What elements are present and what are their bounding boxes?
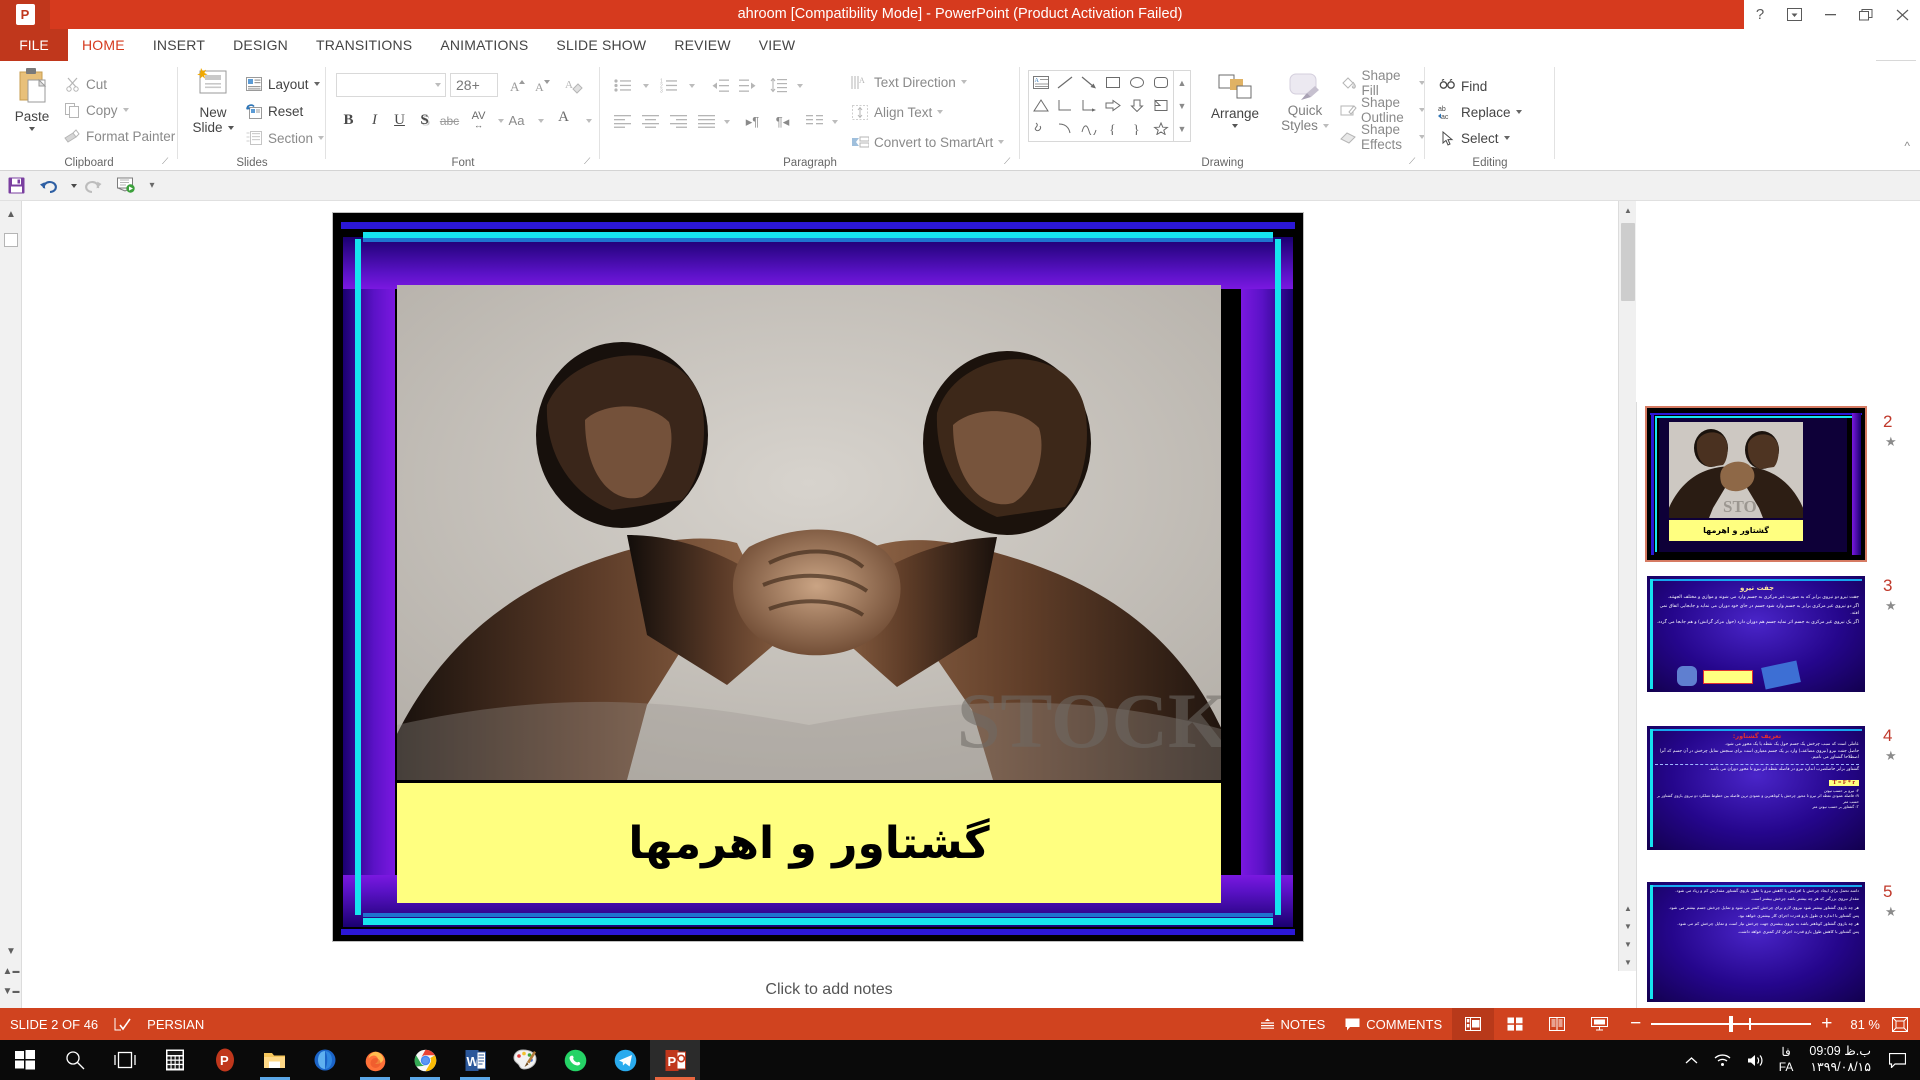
thumbnail-5-bullet-2: مقدار نیروی بزرگتر که هر چه بیشتر باشد چ…	[1655, 896, 1859, 902]
thumbnail-2-canvas: STO گشتاور و اهرمها	[1647, 408, 1865, 560]
slide-stripe-bottom-blue	[341, 929, 1295, 935]
next-slide-icon[interactable]: ▼	[1619, 917, 1637, 935]
slideshow-view-button[interactable]	[1578, 1008, 1620, 1040]
layout-dropdown-caret[interactable]	[314, 82, 320, 86]
powerpoint-viewer-icon[interactable]: P	[200, 1040, 250, 1080]
ribbon-group-clipboard: Paste Cut Copy Format Painter	[0, 61, 178, 171]
find-label: Find	[1461, 79, 1487, 94]
thumbnail-5-bullet-5: هر چه بازوی گشتاور کوتاهتر باشد به نیروی…	[1655, 921, 1859, 927]
align-left-button[interactable]	[610, 109, 635, 134]
gallery-scroll-up-icon[interactable]: ▲	[1174, 71, 1190, 94]
font-size-value: 28+	[456, 77, 480, 93]
slide-frame-top-violet	[343, 237, 1293, 289]
align-text-label: Align Text	[874, 105, 932, 120]
scrollbar-thumb[interactable]	[1621, 223, 1635, 301]
replace-button[interactable]: abac Replace	[1437, 99, 1522, 125]
text-direction-icon: A	[850, 72, 870, 92]
slide-frame-left-violet	[343, 237, 395, 927]
thumbnail-3-number: 3	[1883, 576, 1892, 596]
thumbnail-2-title-box: گشتاور و اهرمها	[1669, 520, 1803, 541]
opera-icon[interactable]	[300, 1040, 350, 1080]
paste-dropdown-caret[interactable]	[29, 127, 35, 131]
paragraph-group-label: Paragraph	[600, 157, 1020, 169]
text-direction-button[interactable]: A Text Direction	[850, 69, 967, 95]
paste-label: Paste	[15, 109, 50, 124]
new-slide-label-1: New	[199, 105, 226, 120]
grow-font-button[interactable]: A	[506, 73, 531, 98]
search-icon[interactable]	[50, 1040, 100, 1080]
svg-text:A: A	[535, 80, 544, 94]
lang-persian-label: فا	[1781, 1045, 1790, 1060]
shape-right-brace[interactable]: }	[1125, 117, 1149, 140]
thumbnail-3-bullet-1: جفت نیرو دو نیروی برابر که به صورت غیر م…	[1655, 595, 1859, 602]
smartart-icon	[850, 132, 870, 152]
chrome-icon[interactable]	[400, 1040, 450, 1080]
reset-icon	[244, 101, 264, 121]
layout-icon	[244, 74, 264, 94]
restore-icon[interactable]	[1848, 0, 1884, 29]
thumbnail-slide-5[interactable]: دامنه تحمل برای ایجاد چرخش با افزایش یا …	[1645, 880, 1867, 1004]
lang-code-label: FA	[1779, 1060, 1794, 1075]
wifi-icon[interactable]	[1706, 1040, 1739, 1080]
thumbnail-3-bullet-2: اگر دو نیروی غیر مرکزی برابر به جسم وارد…	[1655, 604, 1859, 618]
ribbon-group-font: 28+ A A A B I U S abc AV ↔ Aa A	[326, 61, 600, 171]
right-to-left-button[interactable]: ¶◂	[770, 109, 795, 134]
svg-text:P: P	[220, 1053, 229, 1068]
outline-pane-toggle[interactable]	[4, 233, 18, 247]
font-color-label: A	[558, 109, 569, 126]
animation-star-icon[interactable]: ★	[1885, 748, 1897, 764]
ribbon-group-slides: New Slide Layout Reset	[178, 61, 326, 171]
thumbnail-3-canvas: جفت نیرو جفت نیرو دو نیروی برابر که به ص…	[1647, 576, 1865, 692]
normal-view-button[interactable]	[1452, 1008, 1494, 1040]
shape-left-brace[interactable]: {	[1101, 117, 1125, 140]
change-case-caret[interactable]	[526, 108, 551, 133]
clipboard-dialog-launcher[interactable]: ⟋	[162, 156, 174, 168]
system-tray: فا FA 09:09 ب.ظ ۱۳۹۹/۰۸/۱۵	[1677, 1040, 1920, 1080]
thumbnail-3-shape-octagon	[1677, 666, 1697, 686]
notes-icon	[1260, 1018, 1275, 1031]
group-separator	[1554, 67, 1555, 159]
status-bar: SLIDE 2 OF 46 PERSIAN NOTES COMMENTS	[0, 1008, 1920, 1040]
shape-oval[interactable]	[1125, 71, 1149, 94]
thumbnail-4-bullet-3: گشتاور برابر حاصلضرب اندازه نیرو در فاصل…	[1655, 767, 1859, 773]
shape-fill-icon	[1340, 73, 1357, 93]
thumbnail-3-shape-bar	[1703, 670, 1753, 684]
shape-fill-button[interactable]: Shape Fill	[1340, 70, 1425, 96]
slide-thumbnail-pane[interactable]: STO گشتاور و اهرمها 2 ★	[1636, 402, 1920, 1080]
undo-icon[interactable]	[32, 171, 64, 201]
window-title: ahroom [Compatibility Mode] - PowerPoint…	[0, 0, 1920, 29]
current-slide[interactable]: STOCK گشتاور و اهرمها	[333, 213, 1303, 941]
clear-formatting-button[interactable]: A	[562, 73, 587, 98]
shape-triangle[interactable]	[1029, 94, 1053, 117]
redo-icon[interactable]	[78, 171, 110, 201]
columns-caret[interactable]	[825, 109, 839, 134]
cut-button[interactable]: Cut	[62, 71, 107, 97]
slide-stripe-bottom-cyan	[363, 918, 1273, 925]
notes-pane[interactable]: Click to add notes	[22, 971, 1636, 1008]
thumbnail-4-bullet-5: R: فاصله عمودی نقطه اثر نیرو تا محور چرخ…	[1655, 793, 1859, 804]
shape-elbow-connector[interactable]	[1053, 94, 1077, 117]
align-text-button[interactable]: Align Text	[850, 99, 943, 125]
clock-date: ۱۳۹۹/۰۸/۱۵	[1810, 1060, 1871, 1076]
outline-next-slide-icon[interactable]: ▼▬	[0, 980, 22, 1002]
svg-text:}: }	[1133, 123, 1140, 135]
scroll-down-icon[interactable]: ▼	[1619, 935, 1637, 953]
zoom-slider-midpoint	[1749, 1018, 1751, 1030]
svg-text:A: A	[510, 79, 520, 94]
select-button[interactable]: Select	[1437, 125, 1510, 151]
decrease-indent-button[interactable]	[708, 73, 733, 98]
convert-to-smartart-label: Convert to SmartArt	[874, 135, 993, 150]
slide-stripe-right-cyan	[1275, 239, 1281, 915]
bullets-caret[interactable]	[636, 73, 650, 98]
fit-slide-to-window-icon[interactable]	[1886, 1008, 1920, 1040]
shapes-gallery-scrollbar[interactable]: ▲ ▼ ▼	[1174, 70, 1191, 142]
italic-button[interactable]: I	[362, 108, 387, 133]
replace-icon: abac	[1437, 102, 1457, 122]
quick-access-toolbar: ▾	[0, 171, 1920, 201]
arrange-button[interactable]: Arrange	[1202, 73, 1268, 128]
quick-styles-label-1: Quick	[1288, 103, 1323, 118]
workspace: ▲ ▼ ▲▬ ▼▬	[0, 201, 1920, 1008]
svg-text:3: 3	[660, 88, 663, 93]
shape-folded-corner[interactable]	[1149, 94, 1173, 117]
reset-label: Reset	[268, 104, 303, 119]
thumbnail-4-formula: T = F * r	[1829, 780, 1859, 786]
zoom-out-icon[interactable]: −	[1626, 1017, 1651, 1031]
drawing-group-label: Drawing	[1020, 157, 1425, 169]
format-painter-button[interactable]: Format Painter	[62, 123, 175, 149]
previous-slide-icon[interactable]: ▲	[1619, 899, 1637, 917]
font-group-label: Font	[326, 157, 600, 169]
action-center-icon[interactable]	[1881, 1040, 1920, 1080]
find-icon	[1437, 76, 1457, 96]
whatsapp-icon[interactable]	[550, 1040, 600, 1080]
shape-rectangle[interactable]	[1101, 71, 1125, 94]
window-controls: ?	[1744, 0, 1920, 29]
clock-time: 09:09 ب.ظ	[1809, 1044, 1871, 1060]
reading-view-button[interactable]	[1536, 1008, 1578, 1040]
ribbon: Paste Cut Copy Format Painter	[0, 61, 1920, 171]
tab-view[interactable]: VIEW	[745, 29, 810, 61]
slide-image-arm-wrestling[interactable]: STOCK	[397, 285, 1221, 780]
shape-star[interactable]	[1149, 117, 1173, 140]
copy-dropdown-caret[interactable]	[123, 108, 129, 112]
underline-button[interactable]: U	[387, 108, 412, 133]
powerpoint-icon[interactable]: P	[650, 1040, 700, 1080]
format-painter-label: Format Painter	[86, 129, 175, 144]
slide-indicator[interactable]: SLIDE 2 OF 46	[0, 1008, 108, 1040]
thumbnail-4-bullet-1: عاملی است که سبب چرخش یک جسم حول یک نقطه…	[1655, 742, 1859, 748]
thumbnail-4-bullet-2: حاصل جفت نیرو (نیروی مضاعف) وارد بر یک ج…	[1655, 749, 1859, 761]
slide-stripe-top-blue	[341, 222, 1295, 229]
title-bar: P ahroom [Compatibility Mode] - PowerPoi…	[0, 0, 1920, 29]
language-indicator[interactable]: PERSIAN	[137, 1008, 214, 1040]
slides-group-label: Slides	[178, 157, 326, 169]
replace-label: Replace	[1461, 105, 1511, 120]
shape-effects-label: Shape Effects	[1361, 122, 1414, 152]
zoom-level[interactable]: 81 %	[1844, 1008, 1886, 1040]
tab-file[interactable]: FILE	[0, 29, 68, 61]
ribbon-tabs: HOME INSERT DESIGN TRANSITIONS ANIMATION…	[68, 29, 809, 61]
editing-group-label: Editing	[1425, 157, 1555, 169]
shape-effects-icon	[1340, 127, 1357, 147]
comments-button[interactable]: COMMENTS	[1335, 1008, 1452, 1040]
slide-stripe-bottom-steel	[363, 913, 1273, 917]
bullets-button[interactable]	[610, 73, 636, 98]
outline-previous-slide-icon[interactable]: ▲▬	[0, 960, 22, 982]
paint-icon[interactable]	[500, 1040, 550, 1080]
comments-icon	[1345, 1018, 1360, 1031]
shapes-gallery[interactable]: A { }	[1028, 70, 1174, 142]
ribbon-display-options-icon[interactable]	[1776, 0, 1812, 29]
volume-icon[interactable]	[1739, 1040, 1773, 1080]
shape-outline-button[interactable]: Shape Outline	[1340, 97, 1425, 123]
windows-start-icon[interactable]	[0, 1040, 50, 1080]
thumbnail-3-title: جفت نیرو	[1655, 584, 1859, 592]
align-right-button[interactable]	[666, 109, 691, 134]
zoom-in-icon[interactable]: +	[1811, 1017, 1838, 1031]
outline-scroll-up-icon[interactable]: ▲	[0, 203, 22, 225]
powerpoint-window: P ahroom [Compatibility Mode] - PowerPoi…	[0, 0, 1920, 1080]
text-shadow-button[interactable]: S	[412, 108, 437, 133]
left-to-right-button[interactable]: ▸¶	[740, 109, 765, 134]
convert-to-smartart-button[interactable]: Convert to SmartArt	[850, 129, 1004, 155]
line-spacing-button[interactable]	[766, 73, 791, 98]
zoom-slider[interactable]: − +	[1620, 1008, 1844, 1040]
slide-title-placeholder[interactable]: گشتاور و اهرمها	[397, 783, 1221, 903]
thumbnail-2-title: گشتاور و اهرمها	[1703, 526, 1769, 535]
tab-insert[interactable]: INSERT	[139, 29, 219, 61]
shrink-font-button[interactable]: A	[531, 73, 556, 98]
svg-text:A: A	[859, 76, 865, 85]
svg-text:ac: ac	[1441, 114, 1449, 120]
thumbnail-4-canvas: تعریف گشتاور: عاملی است که سبب چرخش یک ج…	[1647, 726, 1865, 850]
copy-icon	[62, 100, 82, 120]
arrange-caret[interactable]	[1232, 124, 1238, 128]
slide-area-scrollbar[interactable]: ▲ ▲ ▼ ▼ ▼	[1618, 201, 1636, 971]
help-icon[interactable]: ?	[1744, 0, 1776, 29]
align-center-button[interactable]	[638, 109, 663, 134]
smartart-caret[interactable]	[998, 140, 1004, 144]
cut-label: Cut	[86, 77, 107, 92]
ribbon-group-paragraph: 123	[600, 61, 1020, 171]
bold-button[interactable]: B	[336, 108, 361, 133]
section-label: Section	[268, 131, 313, 146]
align-text-caret[interactable]	[937, 110, 943, 114]
animation-star-icon[interactable]: ★	[1885, 904, 1897, 920]
drawing-dialog-launcher[interactable]: ⟋	[1409, 156, 1421, 168]
replace-caret[interactable]	[1516, 110, 1522, 114]
thumbnail-2-number: 2	[1883, 412, 1892, 432]
tab-home[interactable]: HOME	[68, 29, 139, 61]
font-color-caret[interactable]	[574, 108, 599, 133]
shape-freeform[interactable]	[1077, 117, 1101, 140]
spellcheck-icon[interactable]	[108, 1008, 137, 1040]
thumbnail-4-number: 4	[1883, 726, 1892, 746]
font-size-input[interactable]: 28+	[450, 73, 498, 97]
slide-stripe-top-steel	[363, 238, 1273, 242]
thumbnail-5-number: 5	[1883, 882, 1892, 902]
file-explorer-icon[interactable]	[250, 1040, 300, 1080]
notes-button[interactable]: NOTES	[1250, 1008, 1336, 1040]
language-indicator-tray[interactable]: فا FA	[1773, 1045, 1800, 1075]
shape-effects-button[interactable]: Shape Effects	[1340, 124, 1425, 150]
tab-transitions[interactable]: TRANSITIONS	[302, 29, 426, 61]
shape-arrow[interactable]	[1077, 71, 1101, 94]
thumbnail-5-bullet-3: هر چه بازوی گشتاور بیشتر شود نیروی لازم …	[1655, 905, 1859, 911]
ribbon-group-drawing: A { } ▲ ▼ ▼	[1020, 61, 1425, 171]
reset-button[interactable]: Reset	[244, 98, 303, 124]
slide-frame-right-violet	[1241, 237, 1293, 927]
minimize-icon[interactable]	[1812, 0, 1848, 29]
slide-stripe-left-cyan	[355, 239, 361, 915]
thumbnail-slide-3[interactable]: جفت نیرو جفت نیرو دو نیروی برابر که به ص…	[1645, 574, 1867, 694]
clock[interactable]: 09:09 ب.ظ ۱۳۹۹/۰۸/۱۵	[1799, 1044, 1881, 1075]
shape-right-arrow[interactable]	[1101, 94, 1125, 117]
strikethrough-button[interactable]: abc	[437, 108, 462, 133]
tab-slide-show[interactable]: SLIDE SHOW	[542, 29, 660, 61]
line-spacing-caret[interactable]	[790, 73, 804, 98]
svg-text:A: A	[1035, 78, 1040, 84]
increase-indent-button[interactable]	[734, 73, 759, 98]
zoom-slider-track[interactable]	[1651, 1023, 1811, 1025]
calculator-icon[interactable]	[150, 1040, 200, 1080]
chevron-up-icon[interactable]	[1677, 1040, 1706, 1080]
shape-curve[interactable]	[1053, 117, 1077, 140]
new-slide-label-2: Slide	[192, 120, 222, 135]
task-view-icon[interactable]	[100, 1040, 150, 1080]
animation-star-icon[interactable]: ★	[1885, 434, 1897, 450]
gallery-scroll-down-icon[interactable]: ▼	[1174, 94, 1190, 117]
cut-icon	[62, 74, 82, 94]
text-direction-caret[interactable]	[961, 80, 967, 84]
numbering-caret[interactable]	[682, 73, 696, 98]
quick-styles-label-2: Styles	[1281, 118, 1318, 133]
columns-button[interactable]	[802, 109, 827, 134]
shape-line[interactable]	[1053, 71, 1077, 94]
slide-title-text: گشتاور و اهرمها	[628, 818, 989, 869]
shape-scribble[interactable]	[1029, 117, 1053, 140]
taskbar: P W P	[0, 1040, 1920, 1080]
font-dialog-launcher[interactable]: ⟋	[584, 156, 596, 168]
tab-design[interactable]: DESIGN	[219, 29, 302, 61]
save-icon[interactable]	[0, 171, 32, 201]
thumbnail-4-title: تعریف گشتاور:	[1655, 732, 1859, 740]
arrange-label: Arrange	[1211, 106, 1259, 121]
slide-sorter-button[interactable]	[1494, 1008, 1536, 1040]
text-direction-label: Text Direction	[874, 75, 956, 90]
thumbnail-slide-4[interactable]: تعریف گشتاور: عاملی است که سبب چرخش یک ج…	[1645, 724, 1867, 852]
numbering-button[interactable]: 123	[656, 73, 682, 98]
animation-star-icon[interactable]: ★	[1885, 598, 1897, 614]
thumbnail-3-bullet-3: اگر یک نیروی غیر مرکزی به جسم اثر نماید …	[1655, 620, 1859, 627]
ribbon-tab-bar: FILE HOME INSERT DESIGN TRANSITIONS ANIM…	[0, 29, 1920, 61]
shape-fill-label: Shape Fill	[1361, 68, 1414, 98]
clipboard-group-label: Clipboard	[0, 157, 178, 169]
paragraph-dialog-launcher[interactable]: ⟋	[1004, 156, 1016, 168]
word-icon[interactable]: W	[450, 1040, 500, 1080]
thumbnail-5-bullet-4: پس گشتاور با اندازه ی طول بازو قدرت اجرا…	[1655, 913, 1859, 919]
justify-caret[interactable]	[717, 109, 731, 134]
scroll-extra-icon[interactable]: ▼	[1619, 953, 1637, 971]
shape-text-box[interactable]: A	[1029, 71, 1053, 94]
undo-dropdown-caret[interactable]	[64, 171, 78, 201]
svg-text:P: P	[667, 1054, 676, 1069]
font-color-button[interactable]: A	[551, 105, 576, 130]
notes-placeholder: Click to add notes	[765, 981, 892, 999]
thumbnail-5-canvas: دامنه تحمل برای ایجاد چرخش با افزایش یا …	[1647, 882, 1865, 1002]
scroll-up-icon[interactable]: ▲	[1619, 201, 1637, 219]
tab-review[interactable]: REVIEW	[660, 29, 744, 61]
tab-animations[interactable]: ANIMATIONS	[426, 29, 542, 61]
collapse-ribbon-icon[interactable]: ^	[1904, 139, 1910, 153]
shape-outline-icon	[1340, 100, 1357, 120]
shape-rounded-rectangle[interactable]	[1149, 71, 1173, 94]
start-from-beginning-icon[interactable]	[110, 171, 142, 201]
customize-qat-icon[interactable]: ▾	[142, 171, 162, 201]
thumbnail-4-bullet-6: T: گشتاور بر حسب نیوتن متر	[1655, 804, 1859, 809]
find-button[interactable]: Find	[1437, 73, 1487, 99]
slide-editing-area: STOCK گشتاور و اهرمها ▲ ▲ ▼ ▼ ▼	[22, 201, 1636, 971]
new-slide-button[interactable]: New Slide	[186, 67, 240, 135]
comments-label: COMMENTS	[1366, 1017, 1442, 1032]
shape-outline-label: Shape Outline	[1361, 95, 1414, 125]
new-slide-dropdown-caret[interactable]	[228, 126, 234, 130]
font-name-input[interactable]	[336, 73, 446, 97]
notes-label: NOTES	[1281, 1017, 1326, 1032]
paste-button[interactable]: Paste	[6, 67, 58, 131]
select-caret[interactable]	[1504, 136, 1510, 140]
copy-label: Copy	[86, 103, 118, 118]
ribbon-group-editing: Find abac Replace Select Editing	[1425, 61, 1555, 171]
shape-elbow-arrow-connector[interactable]	[1077, 94, 1101, 117]
thumbnail-slide-2[interactable]: STO گشتاور و اهرمها 2 ★	[1645, 406, 1867, 562]
layout-button[interactable]: Layout	[244, 71, 320, 97]
select-icon	[1437, 128, 1457, 148]
justify-button[interactable]	[694, 109, 719, 134]
shape-down-arrow[interactable]	[1125, 94, 1149, 117]
quick-styles-caret[interactable]	[1323, 124, 1329, 128]
thumbnail-5-bullet-6: پس گشتاور با کاهش طول بازو قدرت اجرای کا…	[1655, 929, 1859, 935]
telegram-icon[interactable]	[600, 1040, 650, 1080]
firefox-icon[interactable]	[350, 1040, 400, 1080]
layout-label: Layout	[268, 77, 309, 92]
align-text-icon	[850, 102, 870, 122]
outline-scroll-down-icon[interactable]: ▼	[0, 940, 22, 962]
outline-pane-rail: ▲ ▼ ▲▬ ▼▬	[0, 201, 22, 1008]
section-button[interactable]: Section	[244, 125, 324, 151]
select-label: Select	[1461, 131, 1499, 146]
section-dropdown-caret[interactable]	[318, 136, 324, 140]
zoom-slider-handle[interactable]	[1729, 1016, 1733, 1032]
svg-text:{: {	[1109, 123, 1116, 135]
svg-text:STO: STO	[1723, 497, 1757, 516]
copy-button[interactable]: Copy	[62, 97, 129, 123]
close-icon[interactable]	[1884, 0, 1920, 29]
thumbnail-5-bullet-1: دامنه تحمل برای ایجاد چرخش با افزایش یا …	[1655, 888, 1859, 894]
format-painter-icon	[62, 126, 82, 146]
gallery-more-icon[interactable]: ▼	[1174, 118, 1190, 141]
svg-text:STOCK: STOCK	[957, 677, 1221, 764]
font-name-dropdown-caret[interactable]	[435, 83, 441, 87]
quick-styles-button[interactable]: Quick Styles	[1274, 73, 1336, 133]
svg-text:ab: ab	[1438, 106, 1446, 113]
section-icon	[244, 128, 264, 148]
svg-text:A: A	[565, 79, 573, 91]
